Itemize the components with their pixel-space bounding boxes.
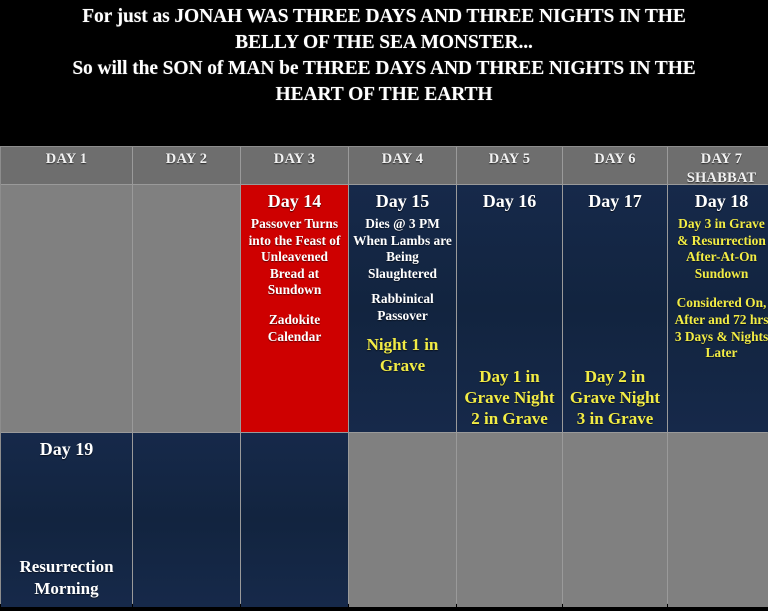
- cell-note-primary: Passover Turns into the Feast of Unleave…: [244, 216, 345, 299]
- day-number: Day 18: [671, 190, 768, 212]
- table-row2-cell-day-2: [133, 433, 240, 607]
- table-row2-cell-day-4: [349, 433, 456, 607]
- day-number: Day 19: [4, 438, 129, 460]
- day-number: Day 15: [352, 190, 453, 212]
- table-header-day-6: DAY 6: [563, 147, 667, 184]
- header-label: DAY 6: [566, 149, 664, 168]
- header-label: DAY 1: [4, 149, 129, 168]
- resurrection-note: Resurrection Morning: [4, 556, 129, 604]
- heading-line-4: HEART OF THE EARTH: [0, 82, 768, 108]
- table-row1-cell-day-1: [1, 185, 132, 432]
- slide-heading: For just as JONAH WAS THREE DAYS AND THR…: [0, 0, 768, 140]
- cell-grave-count: Day 2 in Grave Night 3 in Grave: [566, 366, 664, 429]
- table-header-day-7: DAY 7 SHABBAT: [668, 147, 768, 184]
- table-row2-cell-day-5: [457, 433, 562, 607]
- cell-note-secondary: Considered On, After and 72 hrs 3 Days &…: [671, 295, 768, 361]
- table-row1-cell-day-6: Day 17 Day 2 in Grave Night 3 in Grave: [563, 185, 667, 432]
- table-header-day-2: DAY 2: [133, 147, 240, 184]
- table-row2-cell-day-6: [563, 433, 667, 607]
- day-number: Day 16: [460, 190, 559, 212]
- heading-line-1: For just as JONAH WAS THREE DAYS AND THR…: [0, 4, 768, 30]
- table-header-day-3: DAY 3: [241, 147, 348, 184]
- table-row1-cell-day-3: Day 14 Passover Turns into the Feast of …: [241, 185, 348, 432]
- cell-note-secondary: Zadokite Calendar: [244, 312, 345, 345]
- heading-line-2: BELLY OF THE SEA MONSTER...: [0, 30, 768, 56]
- header-sublabel: SHABBAT: [671, 168, 768, 184]
- table-row1-cell-day-4: Day 15 Dies @ 3 PM When Lambs are Being …: [349, 185, 456, 432]
- table-header-day-4: DAY 4: [349, 147, 456, 184]
- header-label: DAY 3: [244, 149, 345, 168]
- day-number: Day 14: [244, 190, 345, 212]
- table-header-day-5: DAY 5: [457, 147, 562, 184]
- heading-line-3: So will the SON of MAN be THREE DAYS AND…: [0, 56, 768, 82]
- cell-note-secondary: Rabbinical Passover: [352, 291, 453, 324]
- table-row1-cell-day-5: Day 16 Day 1 in Grave Night 2 in Grave: [457, 185, 562, 432]
- cell-note-primary: Dies @ 3 PM When Lambs are Being Slaught…: [352, 216, 453, 282]
- table-row1-cell-day-2: [133, 185, 240, 432]
- cell-grave-count: Day 1 in Grave Night 2 in Grave: [460, 366, 559, 429]
- header-label: DAY 2: [136, 149, 237, 168]
- cell-note-primary: Day 3 in Grave & Resurrection After-At-O…: [671, 216, 768, 282]
- day-number: Day 17: [566, 190, 664, 212]
- table-row2-cell-day-3: [241, 433, 348, 607]
- table-row1-cell-day-7: Day 18 Day 3 in Grave & Resurrection Aft…: [668, 185, 768, 432]
- table-row2-cell-day-7: [668, 433, 768, 607]
- table-row2-cell-day-1: Day 19 Resurrection Morning: [1, 433, 132, 607]
- header-label: DAY 7: [671, 149, 768, 168]
- calendar-table: DAY 1 DAY 2 DAY 3 DAY 4 DAY 5 DAY 6 DAY …: [0, 146, 768, 604]
- header-label: DAY 5: [460, 149, 559, 168]
- slide-root: For just as JONAH WAS THREE DAYS AND THR…: [0, 0, 768, 611]
- table-header-day-1: DAY 1: [1, 147, 132, 184]
- cell-grave-count: Night 1 in Grave: [352, 334, 453, 376]
- header-label: DAY 4: [352, 149, 453, 168]
